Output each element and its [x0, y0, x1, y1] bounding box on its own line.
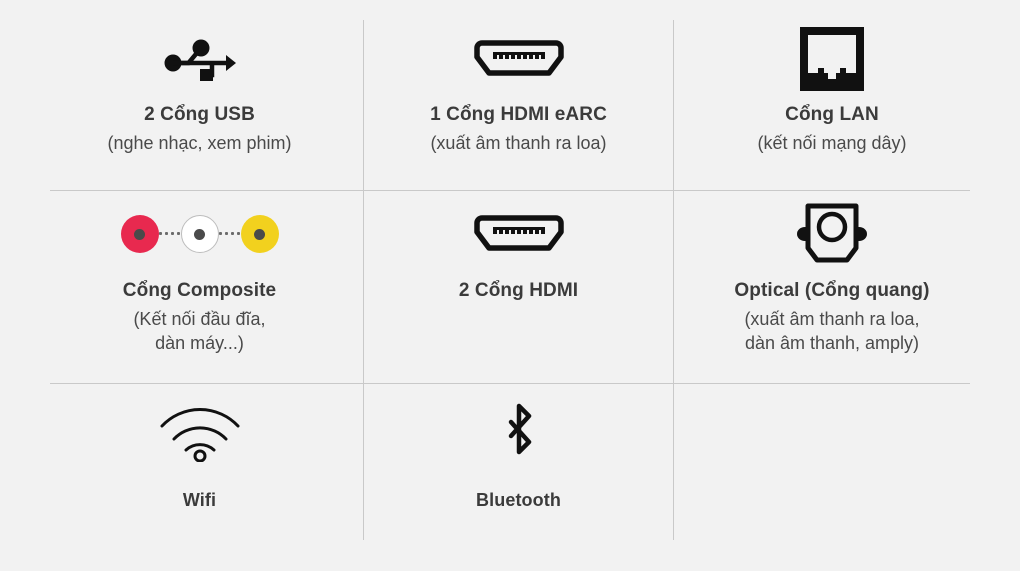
- lan-labels: Cổng LAN (kết nối mạng dây): [757, 102, 906, 155]
- spec-subtitle-line: (Kết nối đầu đĩa,: [123, 307, 276, 331]
- spec-title: 2 Cổng HDMI: [459, 278, 578, 304]
- optical-port-icon: [796, 196, 868, 272]
- grid-divider-horizontal-2: [50, 383, 970, 384]
- usb-icon: [164, 22, 236, 96]
- spec-subtitle: (xuất âm thanh ra loa, dàn âm thanh, amp…: [734, 307, 929, 356]
- spec-subtitle-line: (xuất âm thanh ra loa): [430, 131, 607, 155]
- rca-pin: [254, 229, 265, 240]
- bluetooth-icon: [497, 392, 541, 474]
- rca-pin: [194, 229, 205, 240]
- spec-subtitle-line: dàn máy...): [123, 331, 276, 355]
- grid-divider-horizontal-1: [50, 190, 970, 191]
- hdmi-earc-labels: 1 Cổng HDMI eARC (xuất âm thanh ra loa): [430, 102, 607, 155]
- composite-rca-icon: [121, 196, 279, 272]
- spec-cell-wifi: Wifi: [36, 392, 363, 540]
- spec-cell-hdmi: 2 Cổng HDMI: [364, 196, 673, 383]
- rca-pin: [134, 229, 145, 240]
- rca-jack-red: [121, 215, 159, 253]
- connectivity-spec-grid: 2 Cổng USB (nghe nhạc, xem phim): [0, 0, 1020, 571]
- wifi-labels: Wifi: [183, 488, 216, 512]
- spec-subtitle-line: (xuất âm thanh ra loa,: [734, 307, 929, 331]
- spec-subtitle-line: (nghe nhạc, xem phim): [107, 131, 291, 155]
- spec-subtitle-line: (kết nối mạng dây): [757, 131, 906, 155]
- spec-subtitle: (xuất âm thanh ra loa): [430, 131, 607, 155]
- rca-dotted-link: [159, 232, 181, 236]
- spec-cell-hdmi-earc: 1 Cổng HDMI eARC (xuất âm thanh ra loa): [364, 22, 673, 190]
- spec-subtitle-line: dàn âm thanh, amply): [734, 331, 929, 355]
- spec-cell-usb: 2 Cổng USB (nghe nhạc, xem phim): [36, 22, 363, 190]
- lan-port-icon: [800, 22, 864, 96]
- usb-labels: 2 Cổng USB (nghe nhạc, xem phim): [107, 102, 291, 155]
- optical-labels: Optical (Cổng quang) (xuất âm thanh ra l…: [734, 278, 929, 355]
- composite-labels: Cổng Composite (Kết nối đầu đĩa, dàn máy…: [123, 278, 276, 355]
- spec-title: Cổng Composite: [123, 278, 276, 304]
- hdmi-port-icon: [474, 22, 564, 96]
- spec-cell-empty: [674, 392, 990, 540]
- spec-title: 1 Cổng HDMI eARC: [430, 102, 607, 128]
- spec-cell-lan: Cổng LAN (kết nối mạng dây): [674, 22, 990, 190]
- spec-title: Bluetooth: [476, 488, 561, 512]
- hdmi-port-icon: [474, 196, 564, 272]
- rca-jack-yellow: [241, 215, 279, 253]
- rca-dotted-link: [219, 232, 241, 236]
- wifi-icon: [159, 392, 241, 474]
- spec-subtitle: (nghe nhạc, xem phim): [107, 131, 291, 155]
- spec-subtitle: (kết nối mạng dây): [757, 131, 906, 155]
- spec-cell-optical: Optical (Cổng quang) (xuất âm thanh ra l…: [674, 196, 990, 383]
- rca-jack-white: [181, 215, 219, 253]
- spec-title: Wifi: [183, 488, 216, 512]
- hdmi-labels: 2 Cổng HDMI: [459, 278, 578, 304]
- spec-title: 2 Cổng USB: [107, 102, 291, 128]
- rca-connector-group: [121, 215, 279, 253]
- spec-cell-composite: Cổng Composite (Kết nối đầu đĩa, dàn máy…: [36, 196, 363, 383]
- spec-cell-bluetooth: Bluetooth: [364, 392, 673, 540]
- bluetooth-labels: Bluetooth: [476, 488, 561, 512]
- spec-subtitle: (Kết nối đầu đĩa, dàn máy...): [123, 307, 276, 356]
- spec-title: Cổng LAN: [757, 102, 906, 128]
- spec-title: Optical (Cổng quang): [734, 278, 929, 304]
